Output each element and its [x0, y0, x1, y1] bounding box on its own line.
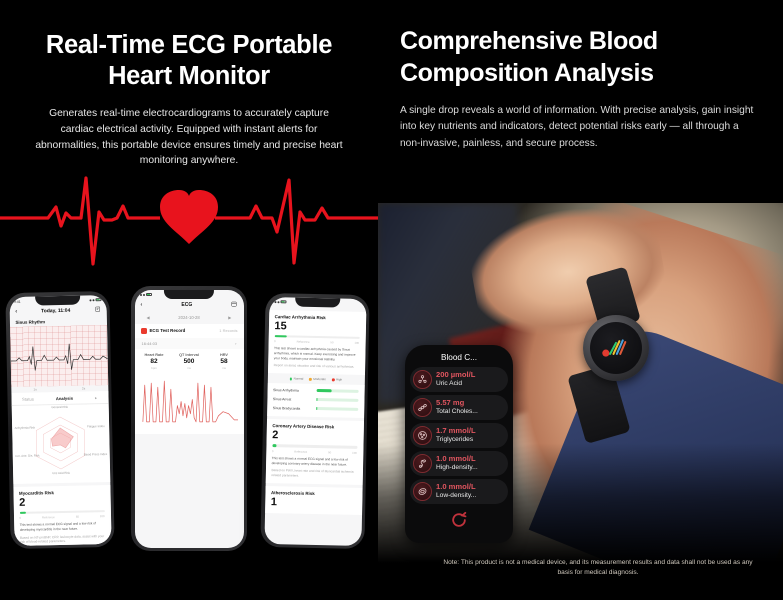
right-subtitle: A single drop reveals a world of informa… [400, 103, 761, 152]
chevron-left-icon[interactable]: ‹ [15, 308, 17, 314]
metrics-row: Heart Rate 82 bpm QT Interval 500 ms HRV… [135, 349, 244, 373]
blood-item-value: 1.0 mmol/L [436, 455, 478, 464]
metric-heart-rate: Heart Rate 82 bpm [137, 353, 172, 371]
blood-item-uric-acid[interactable]: 200 µmol/L Uric Acid [410, 367, 508, 392]
blood-item-value: 5.57 mg [436, 399, 478, 408]
tab-analysis[interactable]: Analysis [56, 395, 73, 400]
legend-ref: Reference [294, 449, 307, 453]
status-time: 9:41 [14, 299, 21, 303]
radar-label: Arrhythmia Risk [15, 425, 35, 429]
tick-label: 1s [33, 387, 36, 391]
risk-meter-legend: 0 Reference 50 100 [272, 449, 357, 455]
battery-icon [280, 300, 286, 303]
risk-description: This test shows a cardiac arrhythmia cau… [274, 346, 359, 362]
metric-value: 82 [137, 358, 172, 365]
metric-label: Heart Rate [137, 353, 172, 357]
metric-label: QT Interval [172, 353, 207, 357]
arrhythmia-list: Sinus Arrhythmia Sinus Arrest Sinus Brad… [267, 383, 365, 418]
metric-label: HRV [207, 353, 242, 357]
arrhythmia-label: Sinus Bradycardia [273, 406, 301, 411]
atherosclerosis-risk-card: Atherosclerosis Risk 1 [265, 486, 363, 515]
phone-mockup-analysis: 9:41 ‹ Today, 11:04 [5, 291, 114, 549]
phone-c-screen: Cardiac Arrhythmia Risk 15 0 Reference 5… [264, 297, 366, 546]
arrhythmia-risk-card: Cardiac Arrhythmia Risk 15 0 Reference 5… [267, 310, 365, 376]
left-panel: Real-Time ECG Portable Heart Monitor Gen… [0, 0, 378, 600]
risk-description: This test shows a normal ECG signal and … [20, 521, 105, 532]
risk-description: This test shows a normal ECG signal and … [272, 456, 357, 467]
chevron-left-icon[interactable]: ‹ [141, 302, 143, 308]
tick-label: 2s [82, 386, 85, 390]
metric-hrv: HRV 58 ms [207, 353, 242, 371]
myocarditis-risk-card: Myocarditis Risk 2 0 Reference 50 100 Th… [13, 484, 111, 545]
blood-composition-panel: Blood C... 200 µmol/L Uric Acid [405, 345, 513, 543]
risk-radar-chart: General Risk Fatigue Index Blood Press I… [11, 403, 110, 483]
record-filter[interactable]: 1 Records [219, 328, 237, 333]
right-title: Comprehensive Blood Composition Analysis [400, 26, 761, 89]
blood-item-text: 1.0 mmol/L High-density... [436, 455, 478, 472]
blood-item-text: 200 µmol/L Uric Acid [436, 371, 475, 388]
risk-value: 2 [272, 429, 357, 443]
risk-value: 2 [19, 495, 104, 509]
metric-unit: ms [207, 366, 242, 370]
arrhythmia-label: Sinus Arrhythmia [273, 388, 299, 393]
nav-title: ECG [181, 302, 192, 308]
watch-face-icon [599, 337, 633, 359]
legend-ref: Reference [297, 340, 310, 344]
left-header: Real-Time ECG Portable Heart Monitor Gen… [0, 0, 378, 169]
ecg-record-icon [141, 328, 147, 334]
phone-notch [164, 290, 214, 299]
risk-meter [272, 444, 357, 448]
blood-panel-title: Blood C... [410, 351, 508, 367]
radar-label: General Risk [51, 404, 68, 408]
risk-meter-legend: 0 Reference 50 100 [274, 339, 359, 345]
blood-item-name: Total Choles... [436, 408, 478, 417]
radar-label: Fatigue Index [87, 424, 105, 428]
arrhythmia-bar [316, 390, 358, 393]
legend-max: 100 [352, 451, 357, 455]
metric-value: 500 [172, 358, 207, 365]
risk-subnote: Based on NT-proBNP, CRP, leukocyte data,… [20, 534, 105, 545]
hdl-icon [413, 454, 432, 473]
risk-value: 1 [271, 496, 356, 510]
phone-b-screen: ‹ ECG ◀ 2024-10-28 ▶ [135, 290, 244, 548]
right-header: Comprehensive Blood Composition Analysis… [378, 0, 783, 152]
legend-normal: Normal [290, 377, 304, 381]
more-icon[interactable]: ▸ [95, 395, 97, 400]
metric-value: 58 [207, 358, 242, 365]
ecg-strip-chart [10, 325, 108, 387]
refresh-icon[interactable] [449, 510, 469, 535]
legend-mid: 50 [330, 340, 333, 344]
date-value: 2024-10-28 [178, 315, 199, 320]
phone-a-screen: 9:41 ‹ Today, 11:04 [9, 295, 111, 546]
radar-label: Cor. Arte. Dis. Risk [15, 453, 39, 458]
next-arrow-icon[interactable]: ▶ [228, 315, 231, 320]
record-header: ECG Test Record 1 Records [135, 324, 244, 338]
blood-item-hdl[interactable]: 1.0 mmol/L High-density... [410, 451, 508, 476]
ecg-amplitude-chart [135, 372, 244, 434]
phone-notch [295, 297, 340, 307]
coronary-risk-card: Coronary Artery Disease Risk 2 0 Referen… [265, 419, 363, 485]
blood-item-name: Low-density... [436, 492, 476, 501]
left-subtitle: Generates real-time electrocardiograms t… [18, 106, 360, 169]
calendar-icon[interactable] [231, 301, 237, 309]
legend-high: High [332, 378, 342, 382]
status-icons [89, 298, 101, 301]
blood-item-value: 1.0 mmol/L [436, 483, 476, 492]
blood-item-text: 1.7 mmol/L Triglycerides [436, 427, 476, 444]
date-navigator: ◀ 2024-10-28 ▶ [135, 312, 244, 324]
record-time: 16:44:03 [142, 341, 158, 346]
ldl-icon [413, 482, 432, 501]
risk-meter [274, 335, 359, 339]
legend-min: 0 [272, 449, 274, 453]
phone-b-navbar: ‹ ECG [135, 300, 244, 312]
list-item: Sinus Bradycardia [267, 403, 364, 414]
phone-notch [35, 295, 80, 305]
blood-item-name: Uric Acid [436, 380, 475, 389]
blood-item-text: 5.57 mg Total Choles... [436, 399, 478, 416]
blood-item-text: 1.0 mmol/L Low-density... [436, 483, 476, 500]
smartwatch [583, 315, 649, 381]
legend-ref: Reference [42, 515, 55, 519]
radar-label: Blood Press Index [84, 452, 108, 456]
legend-min: 0 [20, 516, 22, 520]
legend-mid: 50 [76, 515, 79, 519]
phone-mockup-ecg: ‹ ECG ◀ 2024-10-28 ▶ [131, 286, 247, 551]
blood-item-value: 200 µmol/L [436, 371, 475, 380]
phone-showcase: 9:41 ‹ Today, 11:04 [0, 278, 378, 600]
refresh-row [410, 507, 508, 535]
legend-mid: 50 [328, 450, 331, 454]
uric-acid-icon [413, 370, 432, 389]
left-title: Real-Time ECG Portable Heart Monitor [18, 30, 360, 92]
right-panel: Comprehensive Blood Composition Analysis… [378, 0, 783, 600]
metric-unit: ms [172, 366, 207, 370]
metric-qt-interval: QT Interval 500 ms [172, 353, 207, 371]
risk-meter [19, 510, 104, 514]
blood-item-total-cholesterol[interactable]: 5.57 mg Total Choles... [410, 395, 508, 420]
arrhythmia-bar [316, 407, 358, 410]
share-icon[interactable] [94, 306, 100, 314]
legend-max: 100 [100, 514, 105, 518]
tab-status[interactable]: Status [22, 396, 34, 401]
blood-item-value: 1.7 mmol/L [436, 427, 476, 436]
phone-mockup-risks: Cardiac Arrhythmia Risk 15 0 Reference 5… [260, 293, 369, 549]
risk-value: 15 [274, 320, 359, 334]
arrhythmia-label: Sinus Arrest [273, 397, 291, 401]
legend-moderate: Moderate [309, 377, 326, 381]
blood-item-ldl[interactable]: 1.0 mmol/L Low-density... [410, 479, 508, 504]
triglycerides-icon [413, 426, 432, 445]
promo-page: Real-Time ECG Portable Heart Monitor Gen… [0, 0, 783, 600]
prev-arrow-icon[interactable]: ◀ [147, 315, 150, 320]
record-time-row[interactable]: 16:44:03 › [135, 338, 244, 349]
cholesterol-icon [413, 398, 432, 417]
radar-label: Uric Acid Risk [52, 470, 70, 474]
legend-max: 100 [354, 341, 359, 345]
risk-meter-legend: 0 Reference 50 100 [20, 514, 105, 520]
battery-icon [95, 298, 101, 301]
record-label: ECG Test Record [150, 328, 186, 333]
metric-unit: bpm [137, 366, 172, 370]
risk-subnote: Based on PWV, heart rate and risk of Myo… [271, 469, 356, 480]
arrhythmia-bar [316, 398, 358, 401]
blood-item-name: Triglycerides [436, 436, 476, 445]
chevron-right-icon: › [235, 341, 236, 346]
legend-min: 0 [274, 339, 276, 343]
blood-item-name: High-density... [436, 464, 478, 473]
blood-item-triglycerides[interactable]: 1.7 mmol/L Triglycerides [410, 423, 508, 448]
ecg-waveform-icon [0, 168, 378, 280]
battery-icon [146, 293, 152, 296]
risk-subnote: Report on atrial, situation and risk of … [274, 364, 359, 371]
nav-title: Today, 11:04 [41, 307, 70, 314]
disclaimer-note: Note: This product is not a medical devi… [438, 558, 758, 578]
